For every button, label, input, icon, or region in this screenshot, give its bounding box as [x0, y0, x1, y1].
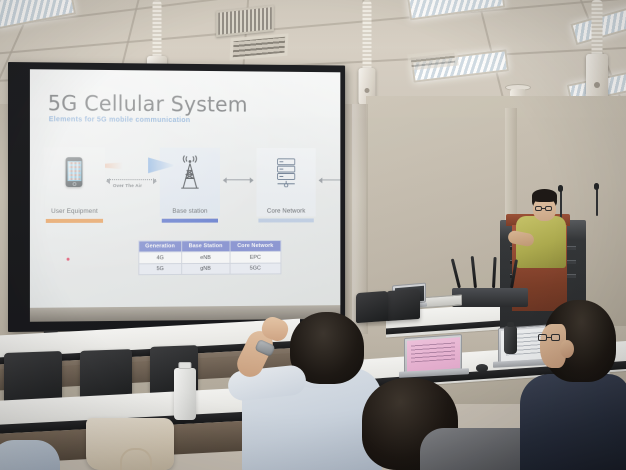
person-presenter — [512, 190, 572, 270]
tumbler-lid — [178, 362, 191, 369]
white-tumbler — [174, 368, 196, 420]
person-attendee-navy — [520, 300, 626, 470]
mouse — [476, 364, 488, 372]
table-header-row: Generation Base Station Core Network — [139, 241, 281, 253]
microphone — [596, 186, 601, 216]
air-interface-link — [107, 179, 156, 180]
projection-screen-frame: 5G Cellular System Elements for 5G mobil… — [8, 62, 345, 332]
glasses-icon — [535, 206, 553, 212]
slide-title: 5G Cellular System — [48, 91, 248, 116]
slide-subtitle: Elements for 5G mobile communication — [49, 114, 191, 124]
laptop-pink-screen — [404, 330, 466, 376]
node-label: User Equipment — [44, 208, 105, 215]
table-header-cell: Generation — [139, 241, 182, 252]
table-row: 4G eNB EPC — [139, 252, 281, 264]
backhaul-link — [224, 179, 253, 180]
attendee-torso — [520, 374, 626, 470]
projected-slide: 5G Cellular System Elements for 5G mobil… — [30, 69, 340, 322]
table-cell: 4G — [139, 252, 182, 263]
diagram-node-user-equipment: User Equipment — [44, 147, 105, 225]
table-cell: 5GC — [230, 263, 281, 274]
node-label: Base station — [160, 208, 220, 215]
glasses-icon — [538, 334, 560, 341]
classroom-photo: 5G Cellular System Elements for 5G mobil… — [0, 0, 626, 470]
diagram-node-base-station: Base station — [160, 148, 220, 225]
network-architecture-diagram: User Equipment Over The Air — [44, 147, 331, 225]
table-header-cell: Base Station — [181, 241, 229, 252]
generation-comparison-table: Generation Base Station Core Network 4G … — [138, 240, 281, 275]
attendee-torso — [0, 440, 60, 470]
table-cell: EPC — [230, 252, 281, 263]
tote-bag — [86, 418, 174, 470]
tote-handle — [120, 448, 152, 470]
presenter-hair-top — [532, 189, 557, 202]
core-to-data-link — [319, 179, 340, 180]
node-underline — [46, 219, 103, 223]
table-row: 5G gNB 5GC — [139, 263, 281, 275]
dark-travel-mug — [504, 326, 517, 354]
antenna-tower-icon — [177, 156, 202, 190]
person-attendee-left-edge — [0, 440, 60, 470]
air-interface-label: Over The Air — [113, 183, 142, 188]
table-cell: eNB — [181, 252, 229, 263]
table-header-cell: Core Network — [230, 241, 281, 252]
smartphone-icon — [66, 157, 83, 187]
attendee-ear — [560, 340, 574, 358]
node-underline — [258, 218, 313, 222]
node-label: Core Network — [256, 208, 315, 215]
diagram-node-core-network: Core Network — [256, 148, 315, 224]
laser-pointer-dot — [67, 258, 70, 261]
hanging-duct-nozzle — [352, 0, 382, 110]
server-rack-icon — [276, 158, 297, 187]
table-cell: 5G — [139, 263, 182, 274]
table-cell: gNB — [181, 263, 229, 274]
wireless-router — [452, 288, 528, 307]
node-underline — [162, 219, 218, 223]
